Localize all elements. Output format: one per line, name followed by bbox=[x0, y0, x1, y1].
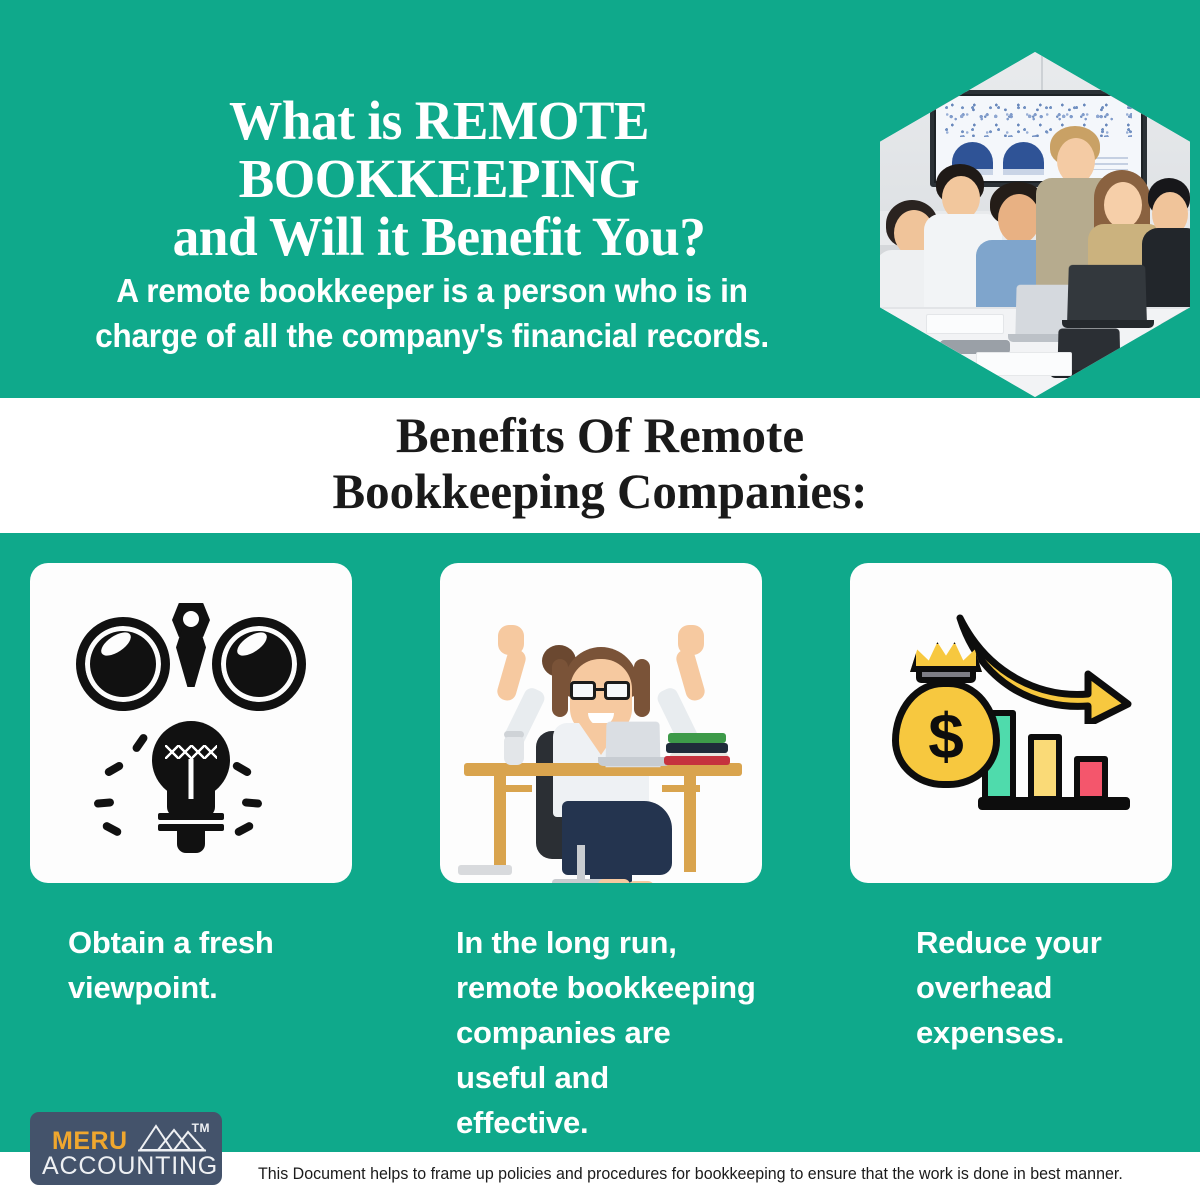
desk-brace bbox=[494, 785, 532, 792]
benefit-cards-row: $ bbox=[0, 533, 1200, 933]
team-photo-hexagon bbox=[880, 52, 1190, 397]
desk-brace bbox=[662, 785, 700, 792]
coffee-cup bbox=[504, 737, 524, 765]
benefits-heading-line1: Benefits Of Remote bbox=[396, 407, 804, 463]
meru-accounting-logo[interactable]: MERU ACCOUNTING TM bbox=[30, 1112, 222, 1185]
benefit-caption-3: Reduce your overhead expenses. bbox=[916, 920, 1186, 1055]
binoculars-right-lens-icon bbox=[212, 617, 306, 711]
book-green bbox=[668, 733, 726, 743]
dollar-sign-icon: $ bbox=[928, 704, 964, 768]
benefit-caption-2: In the long run, remote bookkeeping comp… bbox=[456, 920, 806, 1145]
lightbulb-icon bbox=[146, 721, 236, 841]
benefit-card-2[interactable] bbox=[440, 563, 762, 883]
book-red bbox=[664, 756, 730, 765]
bulb-ray-icon bbox=[233, 821, 254, 837]
office-chair-post bbox=[577, 845, 585, 881]
book-navy bbox=[666, 743, 728, 753]
benefits-heading: Benefits Of Remote Bookkeeping Companies… bbox=[12, 407, 1188, 519]
floor-shadow bbox=[458, 865, 512, 875]
mountain-peaks-icon bbox=[136, 1122, 208, 1152]
hero-subtitle-line2: charge of all the company's financial re… bbox=[38, 313, 825, 358]
binoculars-left-lens-icon bbox=[76, 617, 170, 711]
money-bag-declining-chart-icon: $ bbox=[886, 618, 1136, 828]
woman-right-forearm bbox=[674, 647, 707, 702]
photo-papers bbox=[976, 352, 1072, 376]
bulb-ray-icon bbox=[103, 761, 124, 778]
page-title-line1: What is REMOTE BOOKKEEPING bbox=[229, 90, 649, 209]
hero-subtitle: A remote bookkeeper is a person who is i… bbox=[38, 268, 825, 358]
chart-baseline bbox=[978, 797, 1130, 810]
benefits-heading-line2: Bookkeeping Companies: bbox=[12, 463, 1188, 519]
photo-screen-scatter-chart bbox=[944, 101, 1133, 137]
woman-hair-side bbox=[634, 659, 650, 717]
woman-glasses-bridge bbox=[596, 688, 605, 691]
binoculars-bridge-icon bbox=[176, 627, 206, 687]
photo-screen-gauge bbox=[1003, 142, 1044, 169]
bulb-ray-icon bbox=[242, 798, 263, 808]
bulb-ray-icon bbox=[101, 821, 122, 837]
hero-subtitle-line1: A remote bookkeeper is a person who is i… bbox=[116, 272, 747, 309]
chart-bar-3 bbox=[1074, 756, 1108, 802]
woman-legs bbox=[590, 831, 632, 883]
woman-shoe bbox=[628, 881, 654, 883]
woman-glasses-left-lens bbox=[570, 681, 596, 700]
benefit-caption-1: Obtain a fresh viewpoint. bbox=[68, 920, 368, 1010]
bulb-ray-icon bbox=[94, 798, 115, 808]
binoculars-lightbulb-icon bbox=[76, 603, 306, 843]
photo-papers bbox=[926, 314, 1004, 334]
page-title: What is REMOTE BOOKKEEPING and Will it B… bbox=[27, 92, 852, 266]
woman-glasses-right-lens bbox=[604, 681, 630, 700]
woman-hair-side bbox=[552, 659, 568, 717]
money-bag-icon: $ bbox=[892, 680, 1000, 788]
page-title-line2: and Will it Benefit You? bbox=[27, 208, 852, 266]
benefits-banner: Benefits Of Remote Bookkeeping Companies… bbox=[0, 398, 1200, 533]
laptop-keyboard bbox=[598, 757, 670, 766]
benefit-card-1[interactable] bbox=[30, 563, 352, 883]
footer-caption: This Document helps to frame up policies… bbox=[258, 1162, 1160, 1186]
woman-shoe bbox=[598, 879, 630, 883]
photo-screen-gauge-label bbox=[1003, 169, 1044, 176]
happy-woman-at-desk-illustration bbox=[440, 563, 762, 883]
chart-bar-2 bbox=[1028, 734, 1062, 802]
logo-secondary-text: ACCOUNTING bbox=[42, 1152, 218, 1181]
hero-section: What is REMOTE BOOKKEEPING and Will it B… bbox=[0, 0, 1200, 398]
benefit-card-3[interactable]: $ bbox=[850, 563, 1172, 883]
